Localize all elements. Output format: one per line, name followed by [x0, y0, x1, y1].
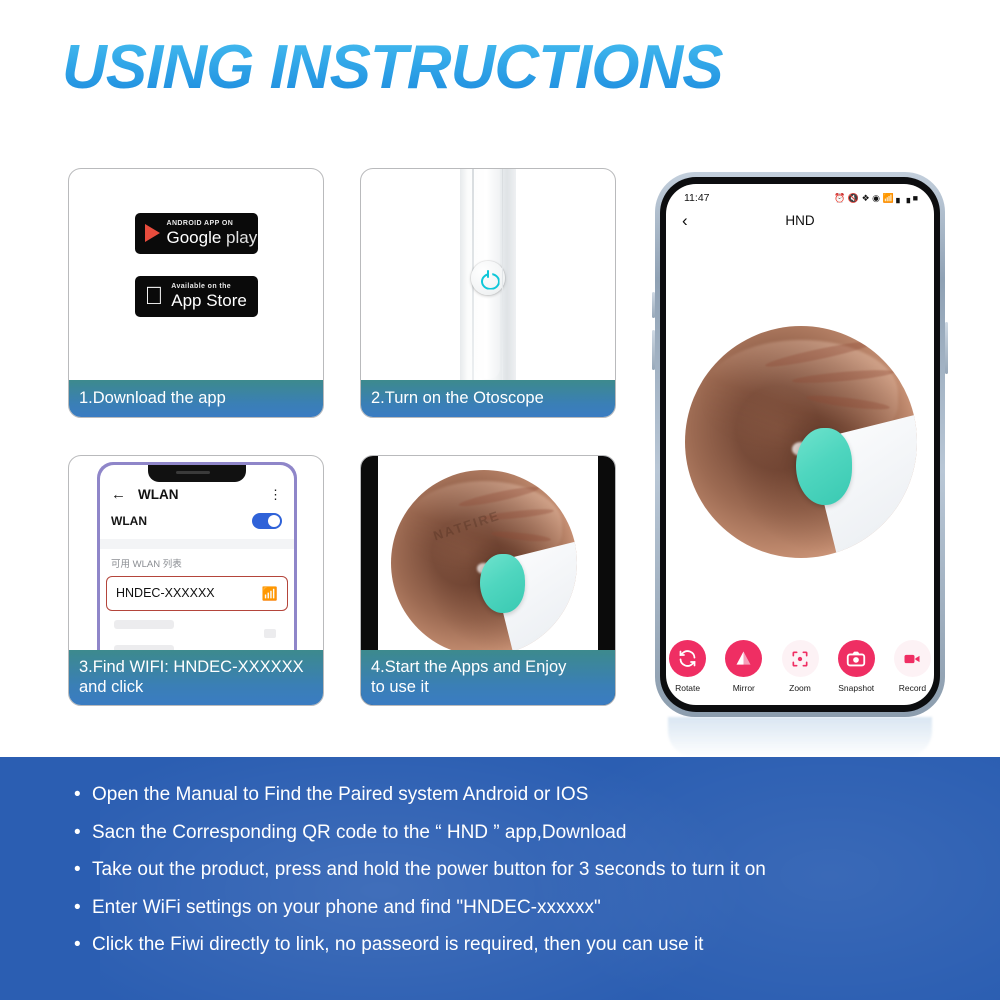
store-badges: ANDROID APP ON Google play  Available o… — [69, 213, 323, 317]
status-time: 11:47 — [684, 192, 710, 204]
wlan-settings-phone: ← WLAN ⋮ WLAN 可用 WLAN 列表 HNDEC-XXXXXX 📶 — [97, 462, 297, 674]
wifi-icon: 📶 — [883, 193, 894, 204]
bullet-marker: • — [74, 785, 92, 804]
bullet-marker: • — [74, 898, 92, 917]
note-text: Take out the product, press and hold the… — [92, 860, 766, 879]
step-4-body: NATFIRE 4.Start the Apps and Enjoy to us… — [361, 456, 615, 705]
google-play-badge-title: Google play — [167, 229, 258, 246]
control-record-label: Record — [899, 683, 926, 693]
camera-controls: Rotate Mirror — [666, 640, 934, 693]
probe-tip-icon — [480, 554, 525, 614]
bullet-marker: • — [74, 935, 92, 954]
app-screen: 11:47 ⏰ 🔇 ❖ ◉ 📶 ▖▗ ■ ‹ HND — [666, 184, 934, 705]
instructions-notes-panel: • Open the Manual to Find the Paired sys… — [0, 757, 1000, 1000]
step-3-caption: 3.Find WIFI: HNDEC-XXXXXX and click — [69, 650, 323, 705]
step-1-caption: 1.Download the app — [69, 380, 323, 417]
power-symbol-icon — [481, 271, 496, 286]
control-mirror-label: Mirror — [733, 683, 755, 693]
probe-tip-icon — [796, 428, 852, 505]
step-panel-3: ← WLAN ⋮ WLAN 可用 WLAN 列表 HNDEC-XXXXXX 📶 — [68, 455, 324, 706]
step-4-caption: 4.Start the Apps and Enjoy to use it — [361, 650, 615, 705]
control-rotate[interactable]: Rotate — [666, 640, 709, 693]
step-panel-4: NATFIRE 4.Start the Apps and Enjoy to us… — [360, 455, 616, 706]
live-ear-view — [685, 326, 917, 558]
alarm-icon: ⏰ — [834, 193, 845, 204]
wlan-header-title: WLAN — [138, 487, 179, 502]
bluetooth-icon: ❖ — [862, 193, 870, 204]
wifi-signal-icon: 📶 — [262, 587, 278, 600]
note-text: Sacn the Corresponding QR code to the “ … — [92, 823, 626, 842]
note-text: Click the Fiwi directly to link, no pass… — [92, 935, 703, 954]
app-title: HND — [666, 213, 934, 228]
wlan-toggle-label: WLAN — [111, 514, 147, 528]
app-store-badge-subtitle: Available on the — [171, 283, 247, 290]
google-play-badge-subtitle: ANDROID APP ON — [167, 220, 258, 227]
control-snapshot[interactable]: Snapshot — [835, 640, 878, 693]
bullet-marker: • — [74, 860, 92, 879]
step-2-body: 2.Turn on the Otoscope — [361, 169, 615, 417]
available-networks-label: 可用 WLAN 列表 — [100, 549, 294, 576]
back-arrow-icon[interactable]: ← — [111, 487, 126, 502]
volume-up-button[interactable] — [652, 292, 655, 318]
video-icon — [894, 640, 931, 677]
step-panel-2: 2.Turn on the Otoscope — [360, 168, 616, 418]
step-3-caption-line2: and click — [79, 677, 313, 697]
google-play-badge[interactable]: ANDROID APP ON Google play — [135, 213, 258, 254]
note-item: • Click the Fiwi directly to link, no pa… — [74, 935, 1000, 954]
note-item: • Open the Manual to Find the Paired sys… — [74, 785, 1000, 804]
wlan-toggle-switch[interactable] — [252, 513, 282, 529]
app-nav-bar: ‹ HND — [666, 204, 934, 229]
note-text: Open the Manual to Find the Paired syste… — [92, 785, 588, 804]
control-mirror[interactable]: Mirror — [722, 640, 765, 693]
note-text: Enter WiFi settings on your phone and fi… — [92, 898, 601, 917]
section-divider — [100, 539, 294, 549]
notes-list: • Open the Manual to Find the Paired sys… — [0, 757, 1000, 954]
network-item-placeholder — [114, 620, 174, 629]
phone-bezel: 11:47 ⏰ 🔇 ❖ ◉ 📶 ▖▗ ■ ‹ HND — [660, 177, 940, 712]
instruction-poster: USING INSTRUCTIONS ANDROID APP ON Google… — [0, 0, 1000, 1000]
power-button-icon[interactable] — [471, 261, 505, 295]
status-icon-group: ⏰ 🔇 ❖ ◉ 📶 ▖▗ ■ — [834, 193, 918, 204]
volume-down-button[interactable] — [652, 330, 655, 370]
control-zoom[interactable]: Zoom — [778, 640, 821, 693]
google-play-triangle-icon — [145, 224, 160, 242]
network-item-hndec[interactable]: HNDEC-XXXXXX 📶 — [106, 576, 288, 611]
page-title: USING INSTRUCTIONS — [62, 32, 723, 103]
location-icon: ◉ — [872, 193, 880, 204]
app-phone-mockup: 11:47 ⏰ 🔇 ❖ ◉ 📶 ▖▗ ■ ‹ HND — [655, 172, 945, 717]
network-name: HNDEC-XXXXXX — [116, 586, 215, 600]
phone-reflection — [668, 717, 932, 757]
overflow-menu-icon[interactable]: ⋮ — [269, 488, 282, 501]
step-4-caption-line2: to use it — [371, 677, 605, 697]
otoscope-device — [460, 169, 516, 385]
note-item: • Take out the product, press and hold t… — [74, 860, 1000, 879]
control-record[interactable]: Record — [891, 640, 934, 693]
ear-canal-image: NATFIRE — [391, 470, 577, 656]
mirror-icon — [725, 640, 762, 677]
google-play-badge-text: ANDROID APP ON Google play — [167, 220, 258, 246]
note-item: • Sacn the Corresponding QR code to the … — [74, 823, 1000, 842]
app-store-badge-title: App Store — [171, 292, 247, 309]
app-store-badge[interactable]:  Available on the App Store — [135, 276, 258, 317]
wlan-toggle-row[interactable]: WLAN — [100, 502, 294, 539]
power-side-button[interactable] — [945, 322, 948, 374]
step-3-caption-line1: 3.Find WIFI: HNDEC-XXXXXX — [79, 657, 313, 677]
phone-notch — [148, 465, 246, 482]
control-zoom-label: Zoom — [789, 683, 811, 693]
bullet-marker: • — [74, 823, 92, 842]
mute-icon: 🔇 — [848, 193, 859, 204]
signal-icon: ▖▗ — [896, 193, 910, 204]
step-2-caption: 2.Turn on the Otoscope — [361, 380, 615, 417]
step-4-caption-line1: 4.Start the Apps and Enjoy — [371, 657, 605, 677]
app-store-badge-text: Available on the App Store — [171, 283, 247, 309]
step-1-body: ANDROID APP ON Google play  Available o… — [69, 169, 323, 417]
step-3-body: ← WLAN ⋮ WLAN 可用 WLAN 列表 HNDEC-XXXXXX 📶 — [69, 456, 323, 705]
control-rotate-label: Rotate — [675, 683, 700, 693]
apple-logo-icon:  — [145, 284, 164, 309]
note-item: • Enter WiFi settings on your phone and … — [74, 898, 1000, 917]
status-bar: 11:47 ⏰ 🔇 ❖ ◉ 📶 ▖▗ ■ — [666, 184, 934, 204]
network-placeholder-icon — [264, 629, 276, 638]
zoom-focus-icon — [782, 640, 819, 677]
rotate-icon — [669, 640, 706, 677]
step-panel-1: ANDROID APP ON Google play  Available o… — [68, 168, 324, 418]
battery-icon: ■ — [913, 193, 918, 203]
control-snapshot-label: Snapshot — [838, 683, 874, 693]
camera-icon — [838, 640, 875, 677]
wlan-settings-screen: ← WLAN ⋮ WLAN 可用 WLAN 列表 HNDEC-XXXXXX 📶 — [100, 465, 294, 674]
